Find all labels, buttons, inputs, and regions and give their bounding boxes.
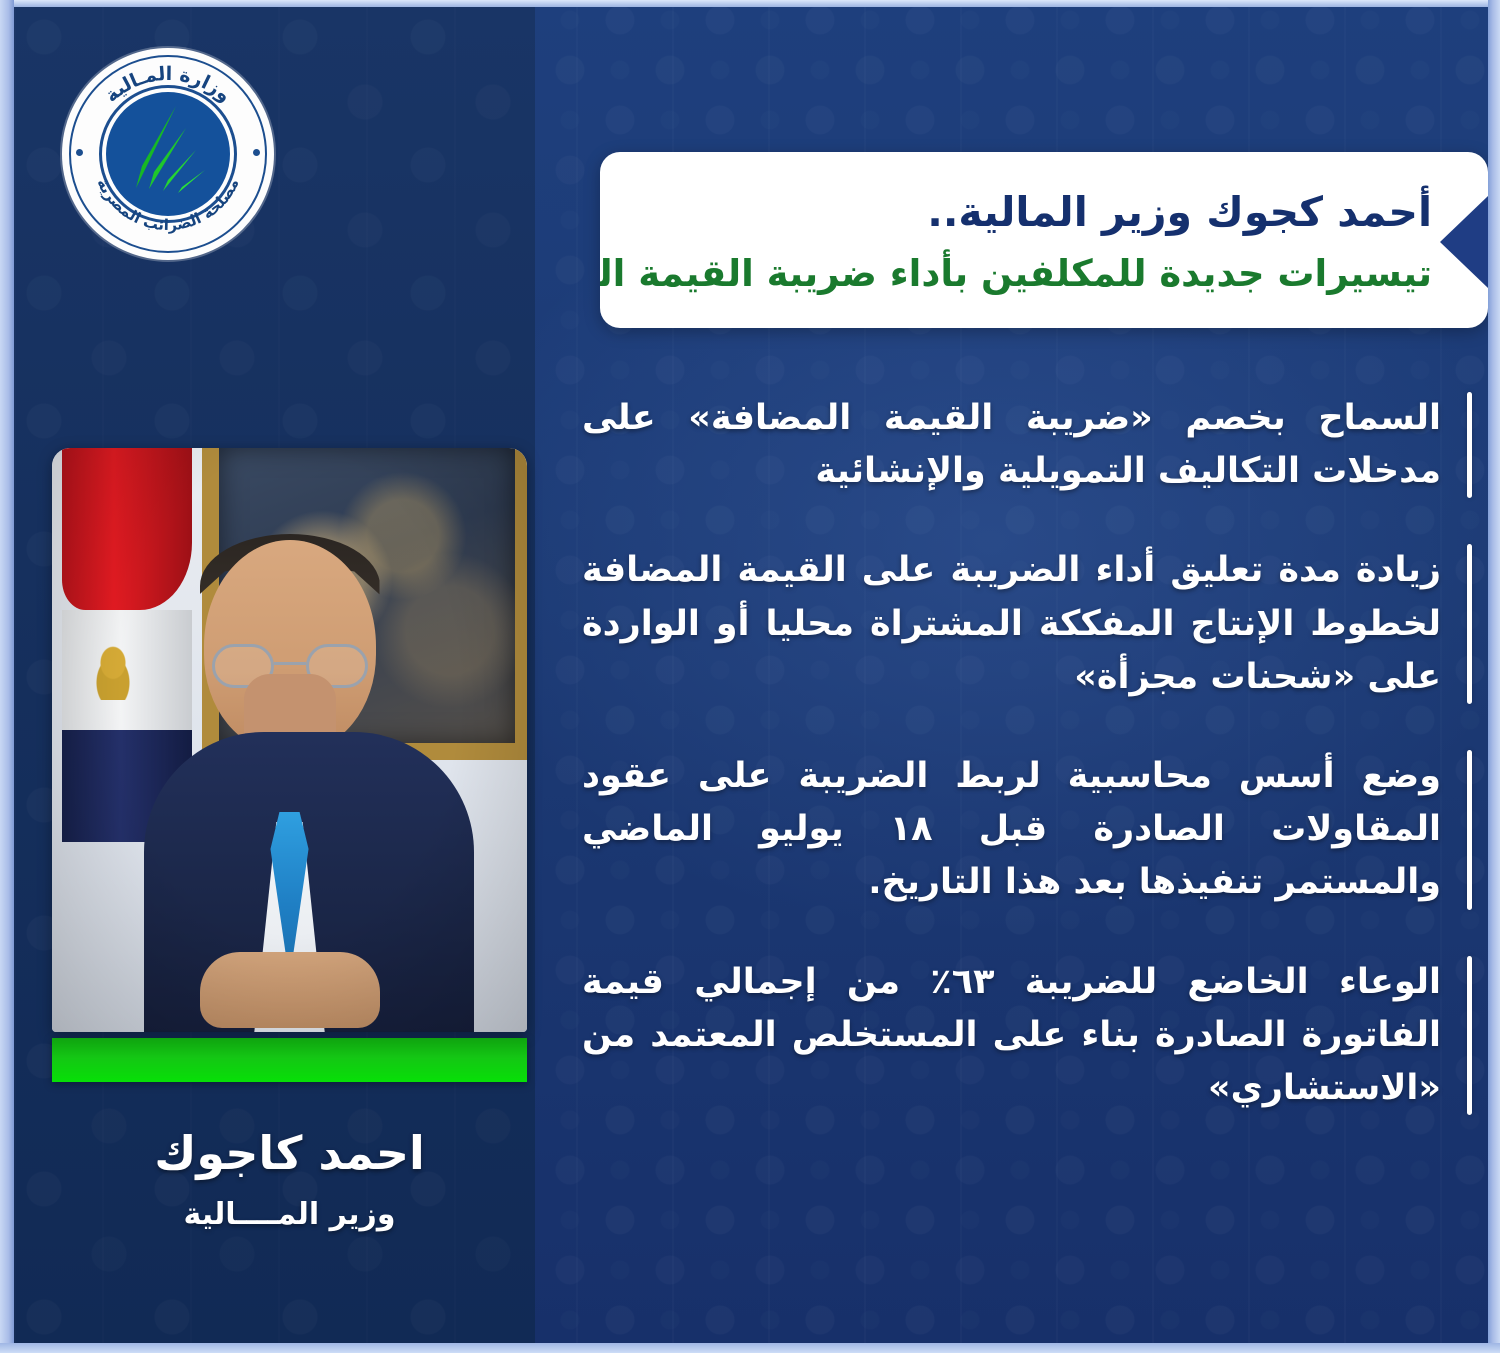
bullet-text-3: وضع أسس محاسبية لربط الضريبة على عقود ال…	[582, 750, 1441, 910]
bullet-text-1: السماح بخصم «ضريبة القيمة المضافة» على م…	[582, 392, 1441, 498]
bullet-rule-icon	[1467, 544, 1472, 704]
minister-name: احمد كاجوك	[52, 1128, 527, 1179]
logo-arc-text: وزارة المـالية مصلحة الضرائب المصرية	[62, 48, 274, 260]
canvas-edge-left	[0, 0, 14, 1353]
headline-pointer-arrow-icon	[1440, 196, 1488, 288]
portrait-caption: احمد كاجوك وزير المــــالية	[52, 1128, 527, 1232]
infographic-canvas: وزارة المـالية مصلحة الضرائب المصرية	[0, 0, 1500, 1353]
bullet-item-3: وضع أسس محاسبية لربط الضريبة على عقود ال…	[582, 750, 1472, 910]
bullet-list: السماح بخصم «ضريبة القيمة المضافة» على م…	[582, 392, 1472, 1161]
canvas-edge-top	[0, 0, 1500, 7]
canvas-edge-right	[1488, 0, 1500, 1353]
bullet-text-2: زيادة مدة تعليق أداء الضريبة على القيمة …	[582, 544, 1441, 704]
bullet-rule-icon	[1467, 392, 1472, 498]
minister-portrait-photo	[52, 448, 527, 1032]
canvas-edge-bottom	[0, 1343, 1500, 1353]
svg-text:وزارة المـالية: وزارة المـالية	[101, 63, 236, 107]
bullet-item-2: زيادة مدة تعليق أداء الضريبة على القيمة …	[582, 544, 1472, 704]
minister-role: وزير المــــالية	[52, 1197, 527, 1232]
bullet-text-4: الوعاء الخاضع للضريبة ٦٣٪ من إجمالي قيمة…	[582, 956, 1441, 1116]
bullet-rule-icon	[1467, 956, 1472, 1116]
portrait-green-accent-bar	[52, 1038, 527, 1082]
headline-primary: أحمد كجوك وزير المالية..	[634, 188, 1432, 236]
svg-text:مصلحة الضرائب المصرية: مصلحة الضرائب المصرية	[93, 176, 242, 234]
portrait-vignette	[52, 448, 527, 1032]
bullet-item-4: الوعاء الخاضع للضريبة ٦٣٪ من إجمالي قيمة…	[582, 956, 1472, 1116]
headline-card: أحمد كجوك وزير المالية.. تيسيرات جديدة ل…	[600, 152, 1488, 328]
bullet-item-1: السماح بخصم «ضريبة القيمة المضافة» على م…	[582, 392, 1472, 498]
ministry-logo: وزارة المـالية مصلحة الضرائب المصرية	[62, 48, 274, 260]
headline-secondary: تيسيرات جديدة للمكلفين بأداء ضريبة القيم…	[634, 252, 1432, 296]
bullet-rule-icon	[1467, 750, 1472, 910]
